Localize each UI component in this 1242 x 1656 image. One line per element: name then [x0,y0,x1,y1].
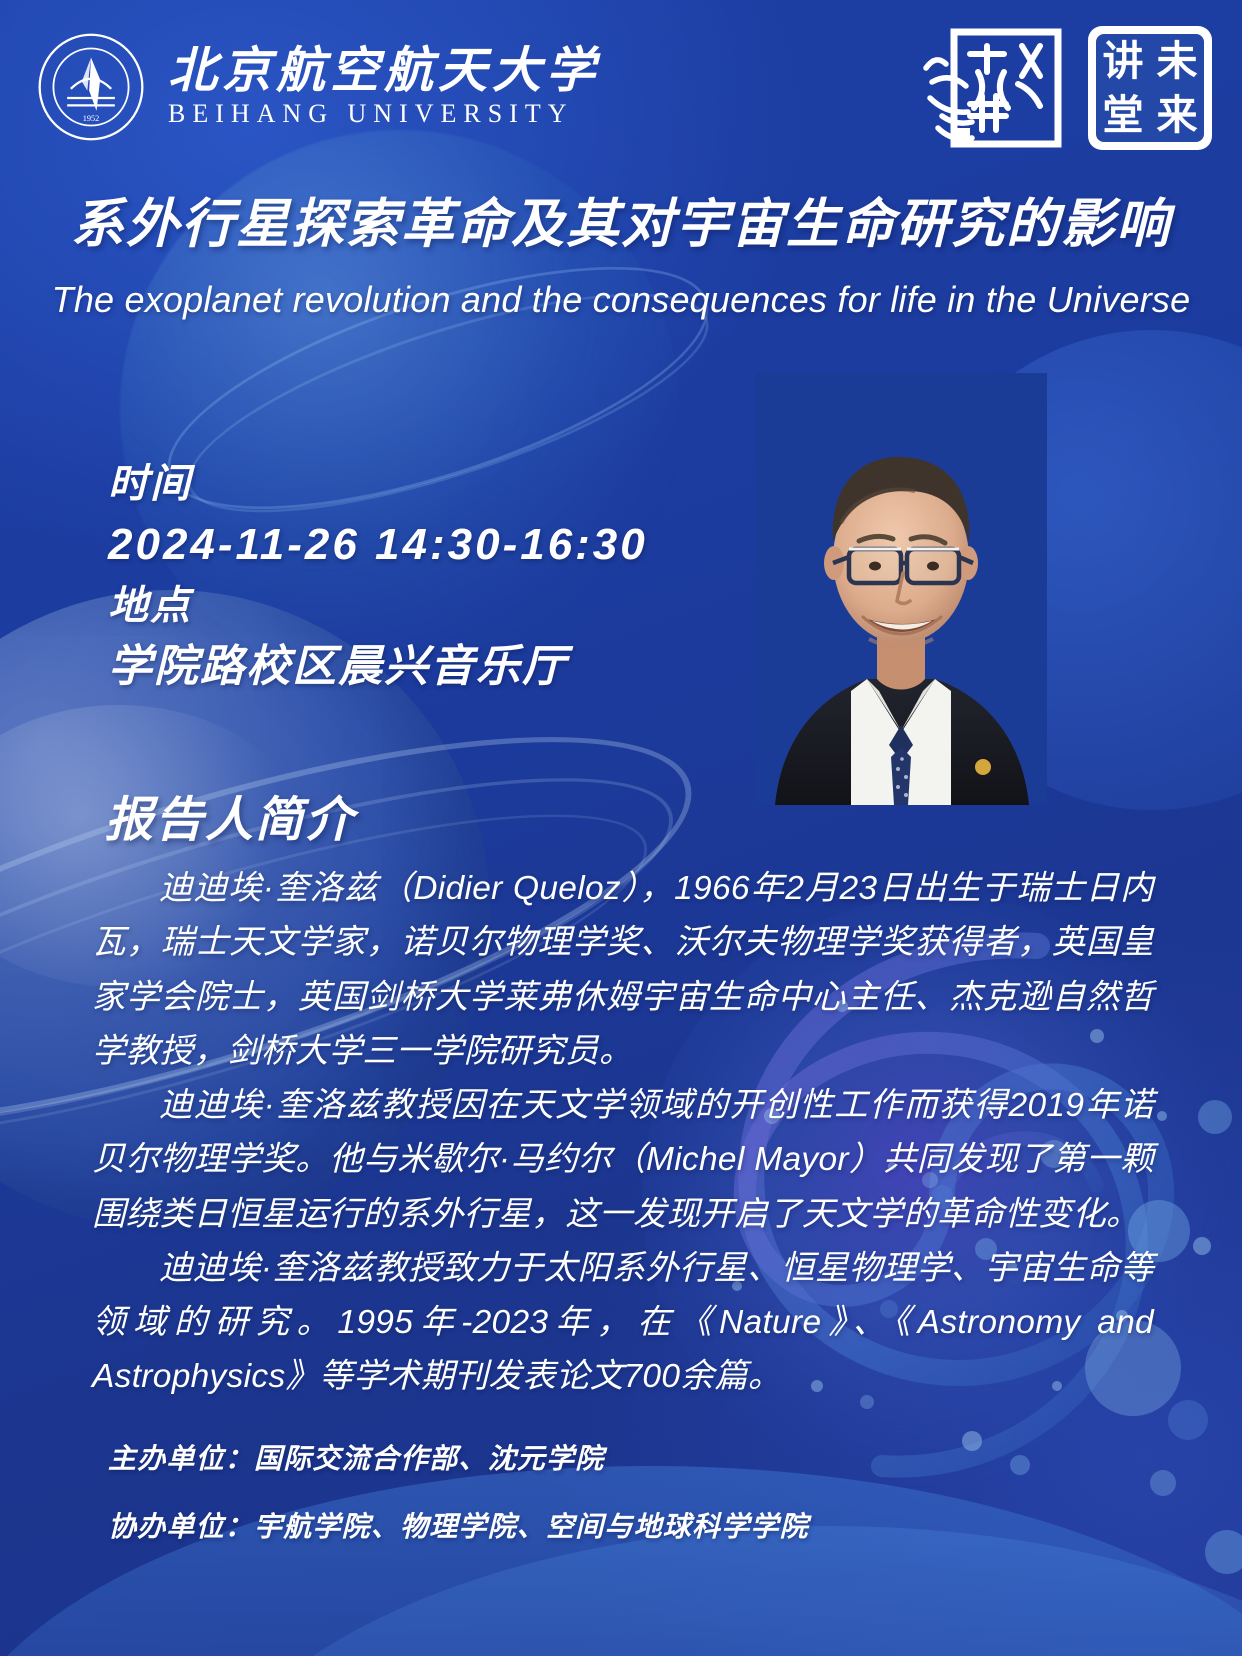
badge-char-wei: 未 [1157,41,1198,82]
university-name-en: BEIHANG UNIVERSITY [168,99,600,129]
organizer-line: 主办单位：国际交流合作部、沈元学院 [108,1440,809,1478]
lecture-hall-badge-inner: 讲 未 堂 来 [1093,31,1207,145]
university-seal-icon: 1952 [36,32,146,142]
place-value: 学院路校区晨兴音乐厅 [108,635,648,699]
time-label: 时间 [108,455,648,513]
program-logos: 讲 未 堂 来 [912,24,1212,152]
time-value: 2024-11-26 14:30-16:30 [108,513,648,577]
bio-paragraph: 迪迪埃·奎洛兹教授致力于太阳系外行星、恒星物理学、宇宙生命等领域的研究。1995… [92,1242,1154,1405]
lecture-hall-badge: 讲 未 堂 来 [1088,26,1212,150]
bio-body: 迪迪埃·奎洛兹（Didier Queloz），1966年2月23日出生于瑞士日内… [92,862,1154,1405]
lecture-title-en: The exoplanet revolution and the consequ… [0,279,1242,321]
lecture-title-cn: 系外行星探索革命及其对宇宙生命研究的影响 [0,193,1242,257]
badge-char-tang: 堂 [1103,95,1144,136]
poster-header: 1952 北京航空航天大学 BEIHANG UNIVERSITY [0,0,1242,175]
bio-heading: 报告人简介 [105,780,355,850]
university-name-block: 北京航空航天大学 BEIHANG UNIVERSITY [168,45,600,128]
badge-char-jiang: 讲 [1103,41,1144,82]
bio-paragraph: 迪迪埃·奎洛兹教授因在天文学领域的开创性工作而获得2019年诺贝尔物理学奖。他与… [92,1079,1154,1242]
speaker-portrait [755,373,1047,805]
event-info-block: 时间 2024-11-26 14:30-16:30 地点 学院路校区晨兴音乐厅 [108,455,648,699]
title-block: 系外行星探索革命及其对宇宙生命研究的影响 The exoplanet revol… [0,193,1242,321]
academic-forum-seal-icon [912,24,1062,152]
place-label: 地点 [108,577,648,635]
poster: 1952 北京航空航天大学 BEIHANG UNIVERSITY [0,0,1242,1656]
bio-paragraph: 迪迪埃·奎洛兹（Didier Queloz），1966年2月23日出生于瑞士日内… [92,862,1154,1079]
university-branding: 1952 北京航空航天大学 BEIHANG UNIVERSITY [36,32,600,142]
university-name-cn: 北京航空航天大学 [168,45,600,96]
svg-text:1952: 1952 [83,114,100,123]
badge-char-lai: 来 [1157,95,1198,136]
co-organizer-line: 协办单位：宇航学院、物理学院、空间与地球科学学院 [108,1508,809,1546]
poster-footer: 主办单位：国际交流合作部、沈元学院 协办单位：宇航学院、物理学院、空间与地球科学… [108,1440,809,1546]
